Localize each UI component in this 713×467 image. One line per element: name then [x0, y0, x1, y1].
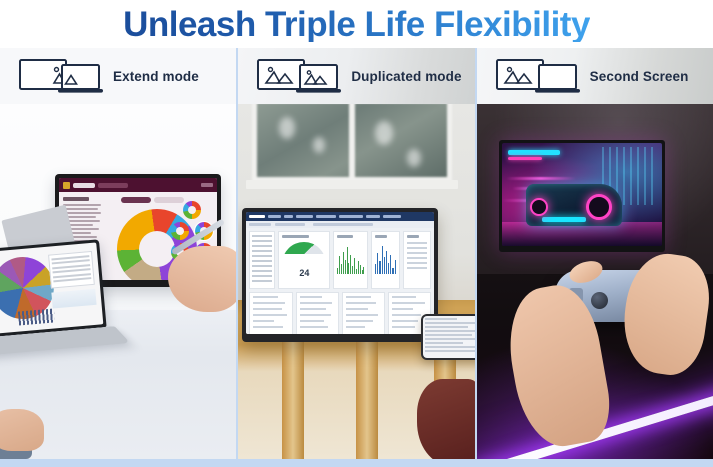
thumb-spacer [170, 196, 214, 198]
analog-stick-left[interactable] [591, 292, 608, 309]
toolbar-chip [98, 183, 128, 188]
nav-item[interactable] [252, 260, 272, 262]
hud-bar-secondary [508, 157, 542, 160]
sidebar-nav[interactable] [249, 231, 275, 289]
table-column [249, 292, 292, 334]
laptop-lid [0, 239, 107, 337]
legend-item [407, 257, 428, 259]
wheel [586, 194, 612, 220]
panel-header-second-screen: Second Screen [477, 48, 713, 104]
data-table [48, 251, 95, 289]
area-chart [51, 289, 96, 309]
nav-item[interactable] [252, 265, 272, 267]
card-title [337, 235, 353, 238]
menu-item[interactable] [268, 215, 281, 218]
panel-header-duplicated: Duplicated mode [238, 48, 474, 104]
nav-item[interactable] [252, 240, 272, 242]
toolbar-chip [73, 183, 95, 188]
text-line [63, 212, 101, 214]
bar-chart [18, 308, 55, 325]
gauge-value: 24 [282, 268, 326, 278]
promo-banner: Unleash Triple Life Flexibility Extend m… [0, 0, 713, 467]
bar-chart [337, 242, 364, 274]
chair [417, 379, 475, 459]
menu-item[interactable] [284, 215, 293, 218]
panel-label-duplicated: Duplicated mode [351, 69, 461, 84]
gauge-chart [282, 242, 326, 266]
legend-item [407, 267, 428, 269]
monitor-laptop-same-image-icon [256, 56, 342, 96]
photo-duplicated-mode: 24 [238, 104, 474, 459]
app-menu-bar[interactable] [246, 212, 434, 221]
menu-item[interactable] [366, 215, 380, 218]
phone-screen [423, 316, 474, 358]
article-heading [63, 197, 89, 201]
menu-item[interactable] [316, 215, 336, 218]
panel-label-extend: Extend mode [113, 69, 199, 84]
title-bar: Unleash Triple Life Flexibility [0, 0, 713, 48]
monitor-image-laptop-blank-icon [495, 56, 581, 96]
chart-thumbnail[interactable] [183, 201, 201, 219]
nav-item[interactable] [252, 235, 272, 237]
legend-list [407, 242, 428, 269]
legend-card [403, 231, 432, 289]
window-controls-icon [201, 183, 213, 187]
table-leg [356, 342, 378, 459]
left-hand [0, 409, 44, 451]
gauge-card: 24 [278, 231, 330, 289]
table-row [53, 277, 91, 282]
front-wing [542, 217, 586, 222]
dashboard: 24 [246, 228, 434, 334]
hud-bar [508, 150, 560, 155]
panel-header-extend: Extend mode [0, 48, 236, 104]
dashboard-bottom-row [249, 292, 431, 334]
card-title [375, 235, 387, 238]
table-column [342, 292, 385, 334]
laptop-screen [0, 242, 103, 333]
app-logo-icon [63, 182, 70, 189]
mode-panels: Extend mode [0, 48, 713, 467]
light-blob [313, 137, 325, 153]
smartphone [421, 314, 474, 360]
nav-item[interactable] [252, 255, 272, 257]
window [252, 104, 452, 182]
legend-item [407, 252, 428, 254]
light-blob [375, 121, 393, 145]
search-input[interactable] [275, 223, 305, 226]
bar-card-green [333, 231, 368, 289]
panel-extend-mode: Extend mode [0, 48, 236, 459]
portable-monitor: 24 [242, 208, 438, 342]
nav-item[interactable] [252, 245, 272, 247]
toolbar-text [313, 223, 373, 226]
bar-chart [375, 242, 396, 274]
dashboard-top-row: 24 [249, 231, 431, 289]
text-line [63, 204, 101, 206]
legend-item [407, 262, 428, 264]
app-toolbar[interactable] [246, 221, 434, 228]
bar-card-blue [371, 231, 400, 289]
menu-item[interactable] [296, 215, 313, 218]
legend-item [407, 247, 428, 249]
light-blob [407, 149, 421, 167]
chart-thumbnail[interactable] [171, 222, 189, 240]
photo-second-screen [477, 104, 713, 459]
monitor-screen: 24 [246, 212, 434, 334]
panel-second-screen: Second Screen [477, 48, 713, 459]
nav-item[interactable] [252, 250, 272, 252]
page-title: Unleash Triple Life Flexibility [123, 7, 590, 42]
menu-item[interactable] [339, 215, 363, 218]
chart-tab-active[interactable] [121, 197, 151, 203]
app-toolbar [59, 178, 217, 192]
nav-item[interactable] [252, 270, 272, 272]
text-line [63, 208, 98, 210]
app-brand [249, 215, 265, 218]
photo-extend-mode [0, 104, 236, 459]
game-screen [502, 143, 662, 246]
nav-item[interactable] [252, 275, 272, 277]
monitor-laptop-split-image-icon [18, 56, 104, 96]
light-blob [279, 117, 295, 139]
panel-label-second-screen: Second Screen [590, 69, 689, 84]
nav-item[interactable] [252, 280, 272, 282]
breadcrumb[interactable] [249, 223, 271, 226]
table-leg [282, 342, 304, 459]
card-title [407, 235, 419, 238]
window-sill [246, 180, 458, 189]
gaming-monitor [499, 140, 665, 252]
race-car [526, 184, 622, 226]
table-column [296, 292, 339, 334]
legend-item [407, 242, 428, 244]
menu-item[interactable] [383, 215, 401, 218]
laptop [0, 239, 113, 361]
panel-duplicated-mode: Duplicated mode [238, 48, 474, 459]
wheel [530, 198, 548, 216]
card-title [282, 235, 308, 238]
